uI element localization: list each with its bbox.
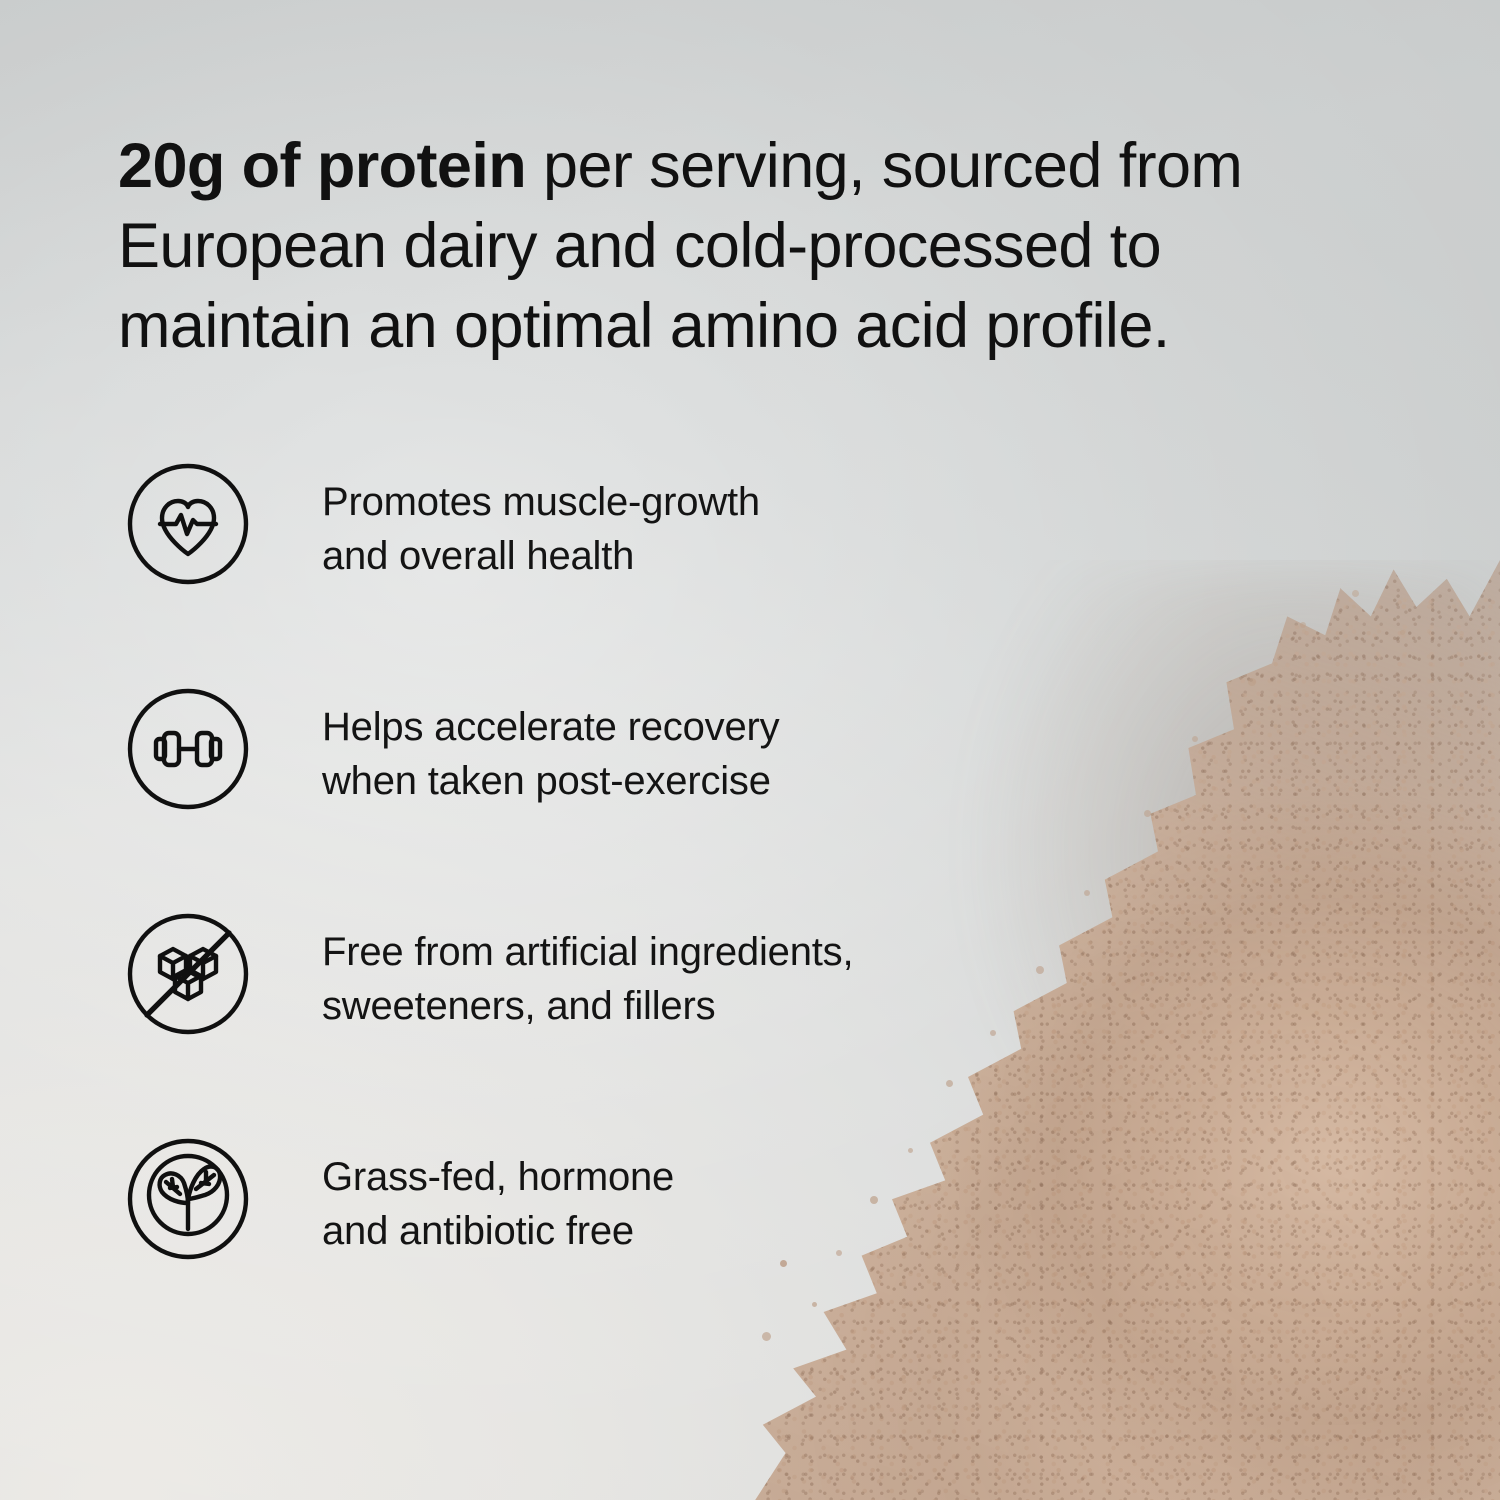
powder-speck <box>1352 590 1359 597</box>
product-feature-graphic: 20g of protein per serving, sourced from… <box>0 0 1500 1500</box>
headline-bold-prefix: 20g of protein <box>118 131 526 201</box>
feature-list: Promotes muscle-growth and overall healt… <box>126 462 1086 1362</box>
powder-speck <box>1192 736 1198 742</box>
feature-label: Grass-fed, hormone and antibiotic free <box>322 1151 674 1258</box>
leaves-natural-icon <box>126 1137 250 1261</box>
powder-speck <box>1400 630 1405 635</box>
no-sugar-cubes-icon <box>126 912 250 1036</box>
feature-item: Promotes muscle-growth and overall healt… <box>126 462 1086 687</box>
powder-speck <box>1144 810 1151 817</box>
feature-label: Free from artificial ingredients, sweete… <box>322 926 853 1033</box>
feature-item: Free from artificial ingredients, sweete… <box>126 912 1086 1137</box>
headline: 20g of protein per serving, sourced from… <box>118 126 1348 366</box>
feature-item: Grass-fed, hormone and antibiotic free <box>126 1137 1086 1362</box>
powder-speck <box>1248 678 1256 686</box>
dumbbell-icon <box>126 687 250 811</box>
feature-label: Promotes muscle-growth and overall healt… <box>322 476 760 583</box>
powder-speck <box>1300 622 1306 628</box>
feature-label: Helps accelerate recovery when taken pos… <box>322 701 779 808</box>
heart-pulse-icon <box>126 462 250 586</box>
feature-item: Helps accelerate recovery when taken pos… <box>126 687 1086 912</box>
